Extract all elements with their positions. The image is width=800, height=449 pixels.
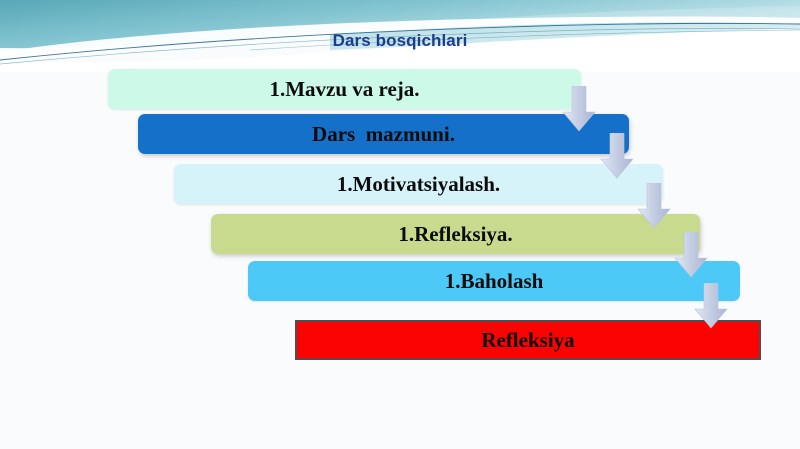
step-bar-label: 1.Mavzu va reja.: [269, 77, 419, 102]
step-bar-2[interactable]: Dars mazmuni.: [138, 114, 629, 154]
step-bar-5[interactable]: 1.Baholash: [248, 261, 740, 301]
step-bar-6[interactable]: Refleksiya: [295, 320, 761, 360]
page-title: Dars bosqichlari: [0, 31, 800, 51]
step-bar-label: Dars mazmuni.: [312, 122, 455, 147]
step-bar-label: 1.Motivatsiyalash.: [337, 172, 500, 197]
slide-canvas: Dars bosqichlari 1.Mavzu va reja.Dars ma…: [0, 0, 800, 449]
step-bar-label: 1.Baholash: [445, 269, 544, 294]
step-bar-label: 1.Refleksiya.: [398, 222, 512, 247]
step-bar-3[interactable]: 1.Motivatsiyalash.: [174, 164, 663, 204]
step-bar-4[interactable]: 1.Refleksiya.: [211, 214, 700, 254]
step-bar-label: Refleksiya: [481, 328, 574, 353]
step-bar-1[interactable]: 1.Mavzu va reja.: [108, 69, 581, 109]
